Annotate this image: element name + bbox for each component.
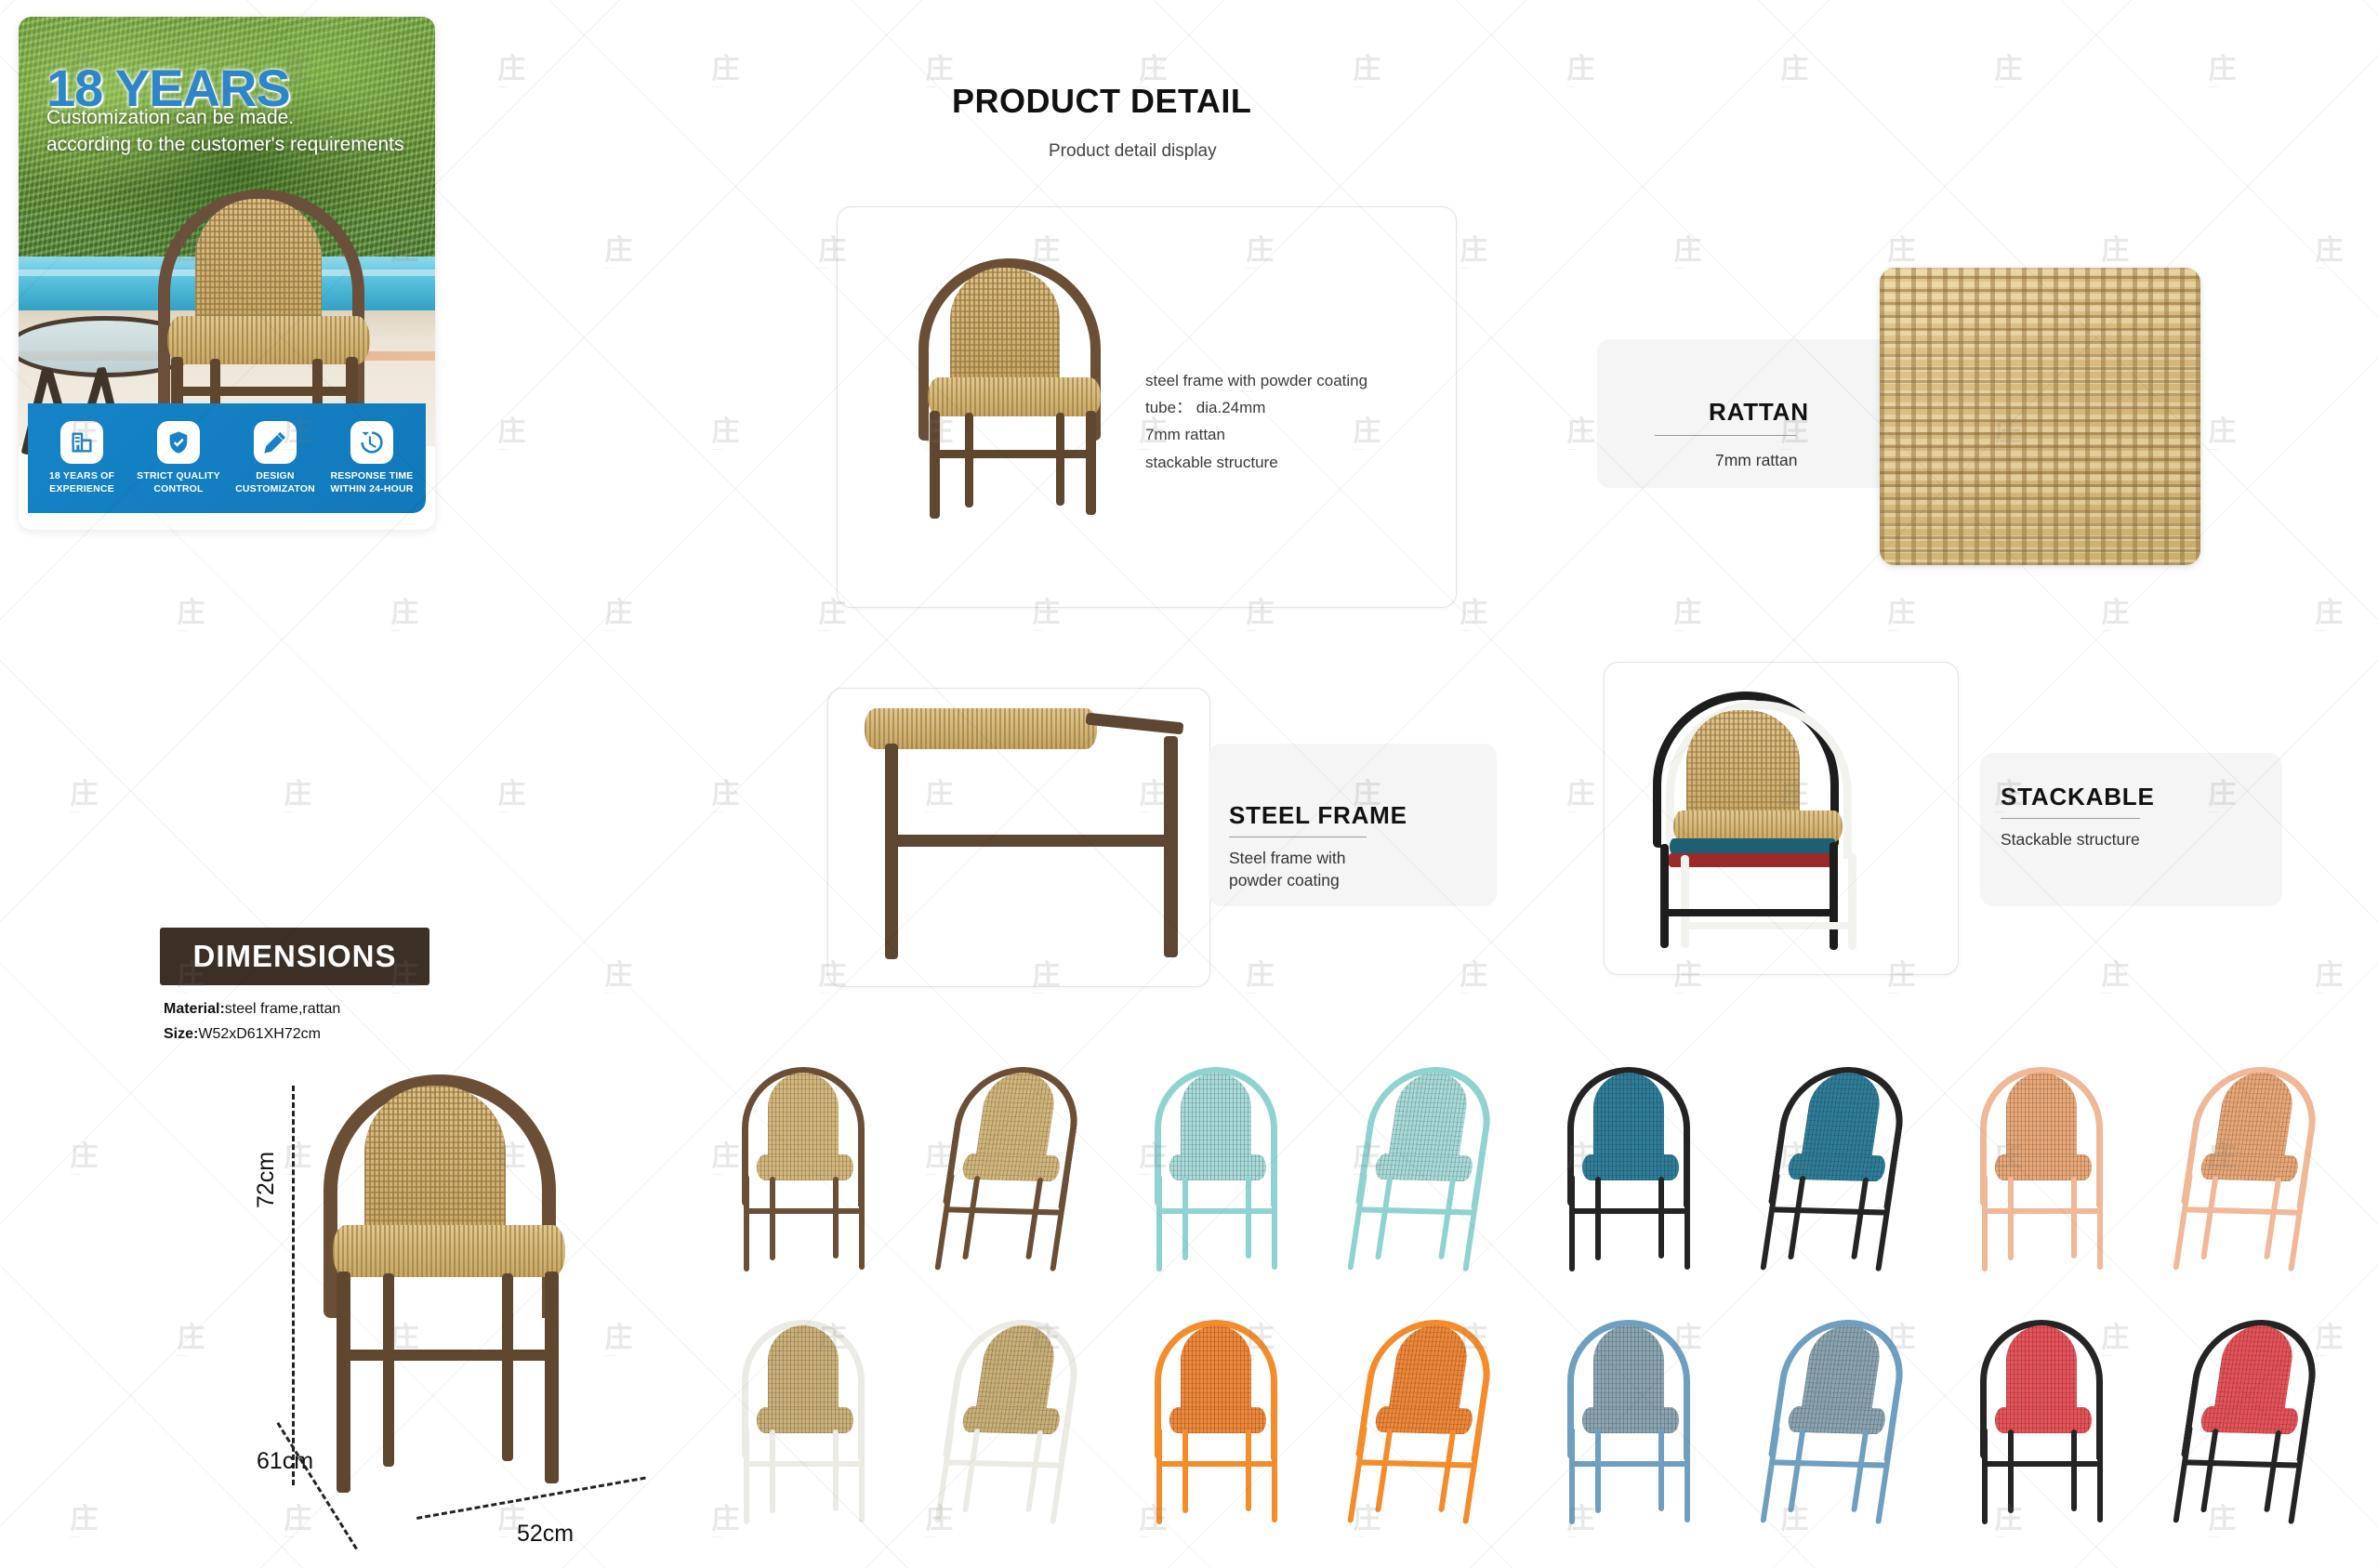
feature-label: DESIGN CUSTOMIZATON <box>235 470 315 494</box>
chair-variant-red-black-front[interactable] <box>1954 1303 2131 1535</box>
chair-leg <box>1658 1430 1664 1511</box>
watermark-glyph: 庄── <box>1353 56 1379 91</box>
height-dimension-label: 72cm <box>253 1152 280 1208</box>
chair-leg <box>1156 1428 1162 1524</box>
chair-rail <box>945 1206 1061 1215</box>
steel-frame-rail <box>891 835 1169 847</box>
chair-leg <box>1684 1175 1690 1270</box>
watermark-glyph: 庄── <box>497 56 523 91</box>
chair-leg <box>1569 1175 1575 1272</box>
chair-backrest <box>1593 1073 1664 1164</box>
watermark-glyph: 庄── <box>1780 56 1806 91</box>
feature-strip: 18 YEARS OF EXPERIENCE STRICT QUALITY CO… <box>28 403 426 513</box>
hero-banner: 18 YEARS Customization can be made. acco… <box>19 17 435 530</box>
chair-leg <box>965 413 973 507</box>
chair-leg <box>1086 411 1096 515</box>
dimensions-chair-leg <box>502 1273 513 1461</box>
chair-variant-natural-white-angle[interactable] <box>922 1303 1099 1535</box>
chair-variant-image <box>905 1301 1116 1538</box>
steel-frame-body-line2: powder coating <box>1229 870 1345 892</box>
chair-rail <box>1571 1461 1686 1467</box>
watermark-glyph: 庄── <box>1460 962 1486 997</box>
color-variant-grid <box>716 1050 2361 1557</box>
chair-variant-image <box>1129 1050 1305 1283</box>
watermark-glyph: 庄── <box>284 1143 310 1179</box>
chair-rail <box>1571 1208 1686 1214</box>
chair-backrest <box>768 1325 839 1416</box>
chair-leg <box>1156 1175 1162 1272</box>
chair-backrest <box>1181 1073 1251 1164</box>
stackable-photo <box>1627 679 1934 957</box>
watermark-glyph: 庄── <box>70 1506 96 1541</box>
watermark-glyph: 庄── <box>711 56 737 91</box>
watermark-glyph: 庄── <box>1460 237 1486 272</box>
feature-label-line2: CUSTOMIZATON <box>235 483 315 495</box>
page-title: PRODUCT DETAIL <box>952 82 1251 121</box>
chair-variant-image <box>1731 1048 1942 1285</box>
watermark-glyph: 庄── <box>2208 418 2234 454</box>
watermark-glyph: 庄── <box>1887 600 1913 635</box>
watermark-glyph: 庄── <box>284 781 310 816</box>
watermark-glyph: 庄── <box>70 1143 96 1179</box>
stackable-divider <box>2001 818 2140 819</box>
chair-rail <box>1358 1206 1473 1215</box>
hero-subtitle-line1: Customization can be made. <box>46 105 418 132</box>
chair-leg <box>1684 1428 1690 1522</box>
dimensions-chair-leg <box>337 1272 350 1493</box>
chair-variant-peach-angle[interactable] <box>2160 1050 2337 1283</box>
chair-rail <box>1771 1206 1886 1215</box>
chair-variant-image <box>716 1050 892 1283</box>
dimensions-size-label: Size: <box>164 1026 198 1042</box>
watermark-glyph: 庄── <box>390 600 416 635</box>
chair-rail <box>933 450 1095 458</box>
watermark-glyph: 庄── <box>1994 56 2020 91</box>
stacked-chair-rail <box>1684 922 1856 929</box>
chair-backrest <box>950 268 1060 385</box>
dimensions-badge-label: DIMENSIONS <box>192 939 396 974</box>
feature-label: RESPONSE TIME WITHIN 24-HOUR <box>330 470 413 494</box>
watermark-glyph: 庄── <box>497 418 523 454</box>
chair-variant-red-black-angle[interactable] <box>2160 1303 2337 1535</box>
chair-variant-mint-front[interactable] <box>1129 1050 1305 1283</box>
chair-rail <box>1158 1208 1274 1214</box>
feature-label-line2: WITHIN 24-HOUR <box>330 483 413 495</box>
chair-leg <box>744 1428 749 1524</box>
watermark-glyph: 庄── <box>925 56 951 91</box>
chair-rail <box>746 1461 861 1467</box>
dimensions-material-value: steel frame,rattan <box>225 1001 341 1017</box>
feature-label-line1: DESIGN <box>235 470 315 482</box>
watermark-glyph: 庄── <box>604 962 630 997</box>
chair-leg <box>2097 1175 2103 1270</box>
shield-check-icon <box>157 421 200 464</box>
chair-leg <box>1658 1177 1664 1258</box>
chair-variant-natural-brown-angle[interactable] <box>922 1050 1099 1283</box>
chair-leg <box>770 1430 775 1513</box>
chair-leg <box>744 1175 749 1272</box>
hero-subtitle-line2: according to the customer's requirements <box>46 132 418 159</box>
stacked-chair-seat-red <box>1668 853 1833 867</box>
spec-line: steel frame with powder coating <box>1145 367 1461 394</box>
watermark-glyph: 庄── <box>2315 962 2341 997</box>
watermark-glyph: 庄── <box>711 418 737 454</box>
feature-label: STRICT QUALITY CONTROL <box>137 470 220 494</box>
chair-leg <box>1982 1428 1988 1524</box>
watermark-glyph: 庄── <box>1566 418 1592 454</box>
chair-variant-peach-front[interactable] <box>1954 1050 2131 1283</box>
chair-leg <box>1272 1175 1277 1270</box>
stacked-chair-backrest <box>1686 710 1800 820</box>
dimensions-chair-leg <box>545 1272 559 1483</box>
feature-label-line1: 18 YEARS OF <box>49 470 114 482</box>
clock-icon <box>350 421 393 464</box>
chair-leg <box>1246 1430 1251 1511</box>
page-subtitle: Product detail display <box>1049 141 1217 162</box>
spec-list: steel frame with powder coating tube： di… <box>1145 367 1461 476</box>
chair-rail <box>2184 1206 2299 1215</box>
dimensions-size: Size:W52xD61XH72cm <box>164 1026 321 1043</box>
chair-variant-image <box>1318 1048 1529 1285</box>
stacked-chair-leg <box>1660 844 1669 948</box>
chair-leg <box>2008 1177 2014 1260</box>
chair-leg <box>859 1428 865 1522</box>
spec-line: tube： dia.24mm <box>1145 394 1461 421</box>
rattan-texture-swatch <box>1880 268 2200 565</box>
hero-chair-seat <box>167 316 370 364</box>
watermark-glyph: 庄── <box>818 600 844 635</box>
width-dimension-line <box>416 1477 646 1520</box>
chair-leg <box>1056 413 1064 506</box>
watermark-glyph: 庄── <box>2315 600 2341 635</box>
watermark-glyph: 庄── <box>2101 962 2127 997</box>
watermark-glyph: 庄── <box>1246 962 1272 997</box>
watermark-glyph: 庄── <box>70 781 96 816</box>
chair-leg <box>859 1175 865 1270</box>
chair-leg <box>2008 1430 2014 1513</box>
watermark-glyph: 庄── <box>284 1506 310 1541</box>
chair-variant-image <box>2144 1048 2355 1285</box>
steel-frame-body: Steel frame with powder coating <box>1229 848 1345 891</box>
dimensions-material-label: Material: <box>164 1001 225 1017</box>
watermark-glyph: 庄── <box>2315 237 2341 272</box>
chair-variant-mint-angle[interactable] <box>1335 1050 1512 1283</box>
steel-frame-seat <box>865 708 1097 749</box>
chair-leg <box>1182 1177 1188 1260</box>
chair-variant-orange-angle[interactable] <box>1335 1303 1512 1535</box>
chair-variant-image <box>1318 1301 1529 1538</box>
chair-variant-image <box>716 1303 892 1535</box>
steel-frame-body-line1: Steel frame with <box>1229 848 1345 870</box>
chair-leg <box>1569 1428 1575 1524</box>
watermark-glyph: 庄── <box>2208 56 2234 91</box>
dimensions-material: Material:steel frame,rattan <box>164 1001 340 1018</box>
chair-leg <box>770 1177 775 1260</box>
stacked-chair-seat-natural <box>1673 810 1843 842</box>
chair-variant-slate-blue-front[interactable] <box>1541 1303 1718 1535</box>
feature-item-quality[interactable]: STRICT QUALITY CONTROL <box>134 421 223 494</box>
chair-seat <box>928 377 1101 416</box>
watermark-glyph: 庄── <box>177 600 203 635</box>
dimensions-chair-backrest <box>364 1086 506 1244</box>
chair-leg <box>1272 1428 1277 1522</box>
chair-variant-natural-brown-front[interactable] <box>716 1050 892 1283</box>
rattan-heading: RATTAN <box>1709 398 1809 427</box>
feature-label-line2: CONTROL <box>137 483 220 495</box>
watermark-glyph: 庄── <box>604 1324 630 1360</box>
chair-leg <box>2097 1428 2103 1522</box>
building-icon <box>60 421 103 464</box>
chair-leg <box>833 1430 839 1511</box>
chair-variant-image <box>905 1048 1116 1285</box>
dimensions-chair-rail <box>340 1350 556 1361</box>
height-dimension-line <box>292 1086 295 1485</box>
feature-label-line1: STRICT QUALITY <box>137 470 220 482</box>
chair-backrest <box>2006 1325 2077 1416</box>
chair-rail <box>2184 1459 2299 1468</box>
depth-dimension-label: 61cm <box>257 1448 313 1475</box>
chair-leg <box>930 411 940 519</box>
stackable-body: Stackable structure <box>2001 829 2140 851</box>
chair-leg <box>1982 1175 1988 1272</box>
feature-item-experience[interactable]: 18 YEARS OF EXPERIENCE <box>37 421 126 494</box>
chair-leg <box>833 1177 839 1258</box>
steel-frame-divider <box>1229 837 1367 837</box>
chair-variant-image <box>1541 1303 1718 1535</box>
chair-leg <box>2071 1177 2077 1258</box>
dimensions-badge: DIMENSIONS <box>160 928 429 985</box>
chair-rail <box>1771 1459 1886 1468</box>
steel-frame-heading: STEEL FRAME <box>1229 801 1407 830</box>
watermark-glyph: 庄── <box>604 600 630 635</box>
chair-backrest <box>1593 1325 1664 1416</box>
chair-variant-image <box>1731 1301 1942 1538</box>
stacked-chair-leg <box>1848 853 1856 950</box>
steel-frame-leg <box>885 744 898 959</box>
watermark-glyph: 庄── <box>1673 600 1699 635</box>
dimensions-chair-seat <box>333 1225 565 1277</box>
chair-variant-image <box>1541 1050 1718 1283</box>
watermark-glyph: 庄── <box>604 237 630 272</box>
chair-backrest <box>768 1073 839 1164</box>
rattan-divider <box>1655 435 1796 436</box>
steel-frame-leg <box>1164 736 1178 957</box>
chair-rail <box>1158 1461 1274 1467</box>
feature-label-line1: RESPONSE TIME <box>330 470 413 482</box>
chair-rail <box>1358 1459 1473 1468</box>
chair-rail <box>1984 1208 2099 1214</box>
chair-variant-image <box>1954 1050 2131 1283</box>
chair-variant-slate-blue-angle[interactable] <box>1748 1303 1924 1535</box>
dimensions-size-value: W52xD61XH72cm <box>198 1026 321 1042</box>
rattan-body: 7mm rattan <box>1715 450 1798 472</box>
watermark-glyph: 庄── <box>1566 56 1592 91</box>
stacked-chair-rail <box>1664 909 1835 916</box>
watermark-glyph: 庄── <box>2101 600 2127 635</box>
chair-variant-orange-front[interactable] <box>1129 1303 1305 1535</box>
chair-variant-natural-white-front[interactable] <box>716 1303 892 1535</box>
feature-item-response[interactable]: RESPONSE TIME WITHIN 24-HOUR <box>327 421 416 494</box>
feature-label-line2: EXPERIENCE <box>49 483 114 495</box>
watermark-glyph: 庄── <box>1460 600 1486 635</box>
dimensions-chair-leg <box>383 1273 394 1467</box>
chair-leg <box>1595 1177 1601 1260</box>
stacked-chair-leg <box>1681 855 1689 948</box>
stackable-heading: STACKABLE <box>2001 783 2155 811</box>
watermark-glyph: 庄── <box>1673 237 1699 272</box>
feature-item-design[interactable]: DESIGN CUSTOMIZATON <box>231 421 320 494</box>
watermark-glyph: 庄── <box>177 1324 203 1360</box>
chair-backrest <box>1181 1325 1251 1416</box>
stacked-chair-leg <box>1830 842 1838 950</box>
pencil-ruler-icon <box>254 421 297 464</box>
hero-subtitle: Customization can be made. according to … <box>46 105 418 159</box>
chair-leg <box>2071 1430 2077 1511</box>
chair-leg <box>1246 1177 1251 1258</box>
chair-variant-teal-black-angle[interactable] <box>1748 1050 1924 1283</box>
chair-variant-teal-black-front[interactable] <box>1541 1050 1718 1283</box>
hero-chair-rail <box>175 387 357 396</box>
chair-leg <box>1595 1430 1601 1513</box>
feature-label: 18 YEARS OF EXPERIENCE <box>49 470 114 494</box>
chair-rail <box>945 1459 1061 1468</box>
chair-rail <box>746 1208 861 1214</box>
spec-line: stackable structure <box>1145 449 1461 476</box>
chair-variant-image <box>1129 1303 1305 1535</box>
chair-variant-image <box>1954 1303 2131 1535</box>
width-dimension-label: 52cm <box>517 1521 574 1548</box>
spec-line: 7mm rattan <box>1145 421 1461 448</box>
watermark-glyph: 庄── <box>497 781 523 816</box>
watermark-glyph: 庄── <box>711 781 737 816</box>
chair-backrest <box>2006 1073 2077 1164</box>
chair-leg <box>1182 1430 1188 1513</box>
watermark-glyph: 庄── <box>1566 781 1592 816</box>
chair-rail <box>1984 1461 2099 1467</box>
chair-variant-image <box>2144 1301 2355 1538</box>
